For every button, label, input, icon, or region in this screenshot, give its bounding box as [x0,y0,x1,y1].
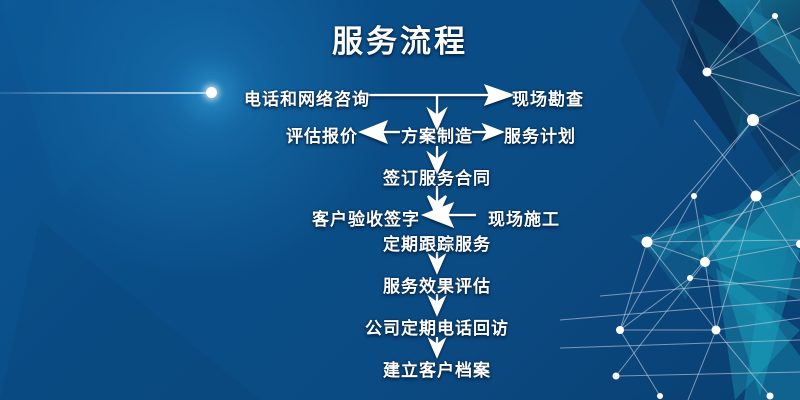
flow-step-6[interactable]: 签订服务合同 [383,164,491,189]
flow-step-5[interactable]: 服务计划 [504,122,576,147]
flow-step-8[interactable]: 现场施工 [488,205,560,230]
flow-step-11[interactable]: 公司定期电话回访 [365,314,509,339]
poster-canvas: 服务流程 [0,0,800,400]
flow-step-7[interactable]: 客户验收签字 [312,205,420,230]
flow-step-10[interactable]: 服务效果评估 [383,272,491,297]
flow-step-2[interactable]: 现场勘查 [512,85,584,110]
flow-step-12[interactable]: 建立客户档案 [383,356,491,381]
flow-step-4[interactable]: 方案制造 [401,122,473,147]
flow-step-3[interactable]: 评估报价 [286,122,358,147]
flow-step-1[interactable]: 电话和网络咨询 [244,85,370,110]
flow-step-9[interactable]: 定期跟踪服务 [383,230,491,255]
flow-chart: 电话和网络咨询 现场勘查 评估报价 方案制造 服务计划 签订服务合同 客户验收签… [0,0,800,400]
